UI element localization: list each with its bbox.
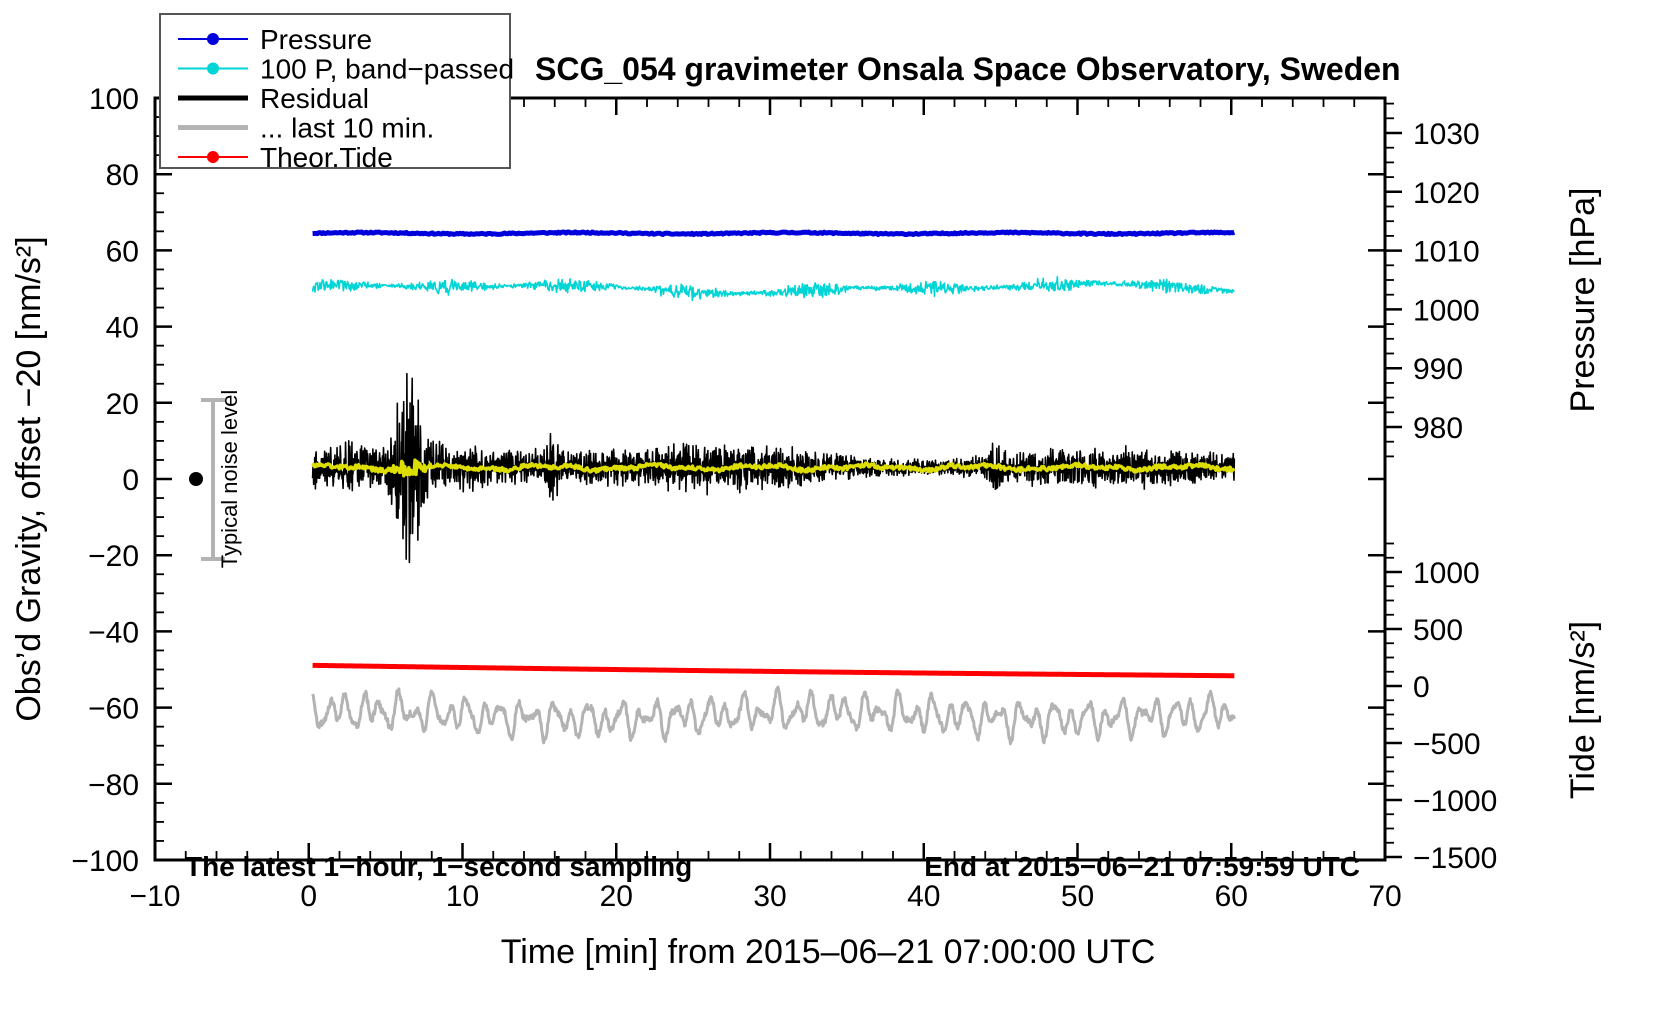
x-tick-label: 50 xyxy=(1061,880,1094,913)
tide-tick-label: −1000 xyxy=(1413,785,1497,818)
x-axis-title: Time [min] from 2015‒06‒21 07:00:00 UTC xyxy=(501,933,1156,971)
y-axis-title: Obs’d Gravity, offset −20 [nm/s²] xyxy=(10,236,48,721)
y-tick-label: −100 xyxy=(71,845,139,878)
tide-tick-label: −1500 xyxy=(1413,842,1497,875)
x-tick-label: 20 xyxy=(600,880,633,913)
legend-item-label: 100 P, band−passed xyxy=(260,54,514,85)
right-axis-title-pressure: Pressure [hPa] xyxy=(1564,188,1602,413)
tide-tick-label: −500 xyxy=(1413,728,1481,761)
page-title: SCG_054 gravimeter Onsala Space Observat… xyxy=(535,51,1401,87)
legend-item-label: Residual xyxy=(260,83,369,114)
latest-sampling-note: The latest 1−hour, 1−second sampling xyxy=(185,851,692,882)
y-tick-label: −60 xyxy=(88,693,139,726)
y-tick-label: 40 xyxy=(106,312,139,345)
pressure-tick-label: 1000 xyxy=(1413,294,1480,327)
end-time-note: End at 2015−06−21 07:59:59 UTC xyxy=(924,851,1360,882)
y-tick-label: 100 xyxy=(89,83,139,116)
y-tick-label: 80 xyxy=(106,159,139,192)
x-tick-label: −10 xyxy=(130,880,181,913)
tide-tick-label: 1000 xyxy=(1413,557,1480,590)
legend-marker-dot xyxy=(207,63,219,75)
typical-noise-level-label: Typical noise level xyxy=(217,390,242,569)
tide-tick-label: 0 xyxy=(1413,671,1430,704)
gravimeter-plot-figure: SCG_054 gravimeter Onsala Space Observat… xyxy=(0,0,1660,1020)
right-axis-title-tide: Tide [nm/s²] xyxy=(1564,621,1602,799)
y-tick-label: −80 xyxy=(88,769,139,802)
x-tick-label: 40 xyxy=(907,880,940,913)
pressure-tick-label: 1010 xyxy=(1413,236,1480,269)
legend-item-label: ... last 10 min. xyxy=(260,113,434,144)
y-tick-label: −20 xyxy=(88,540,139,573)
legend-marker-dot xyxy=(207,33,219,45)
y-tick-label: −40 xyxy=(88,616,139,649)
legend-marker-dot xyxy=(207,151,219,163)
x-tick-label: 60 xyxy=(1215,880,1248,913)
pressure-tick-label: 980 xyxy=(1413,412,1463,445)
pressure-tick-label: 1030 xyxy=(1413,118,1480,151)
tide-tick-label: 500 xyxy=(1413,614,1463,647)
legend[interactable]: Pressure100 P, band−passedResidual... la… xyxy=(160,14,514,173)
y-tick-label: 0 xyxy=(122,464,139,497)
y-tick-label: 60 xyxy=(106,235,139,268)
noise-center-dot xyxy=(189,472,203,486)
x-tick-label: 0 xyxy=(300,880,317,913)
pressure-tick-label: 990 xyxy=(1413,353,1463,386)
pressure-tick-label: 1020 xyxy=(1413,177,1480,210)
x-tick-label: 30 xyxy=(753,880,786,913)
legend-item-label: Pressure xyxy=(260,24,372,55)
series-pressure xyxy=(313,232,1235,235)
x-tick-label: 70 xyxy=(1368,880,1401,913)
legend-item-label: Theor.Tide xyxy=(260,142,393,173)
x-tick-label: 10 xyxy=(446,880,479,913)
y-tick-label: 20 xyxy=(106,388,139,421)
